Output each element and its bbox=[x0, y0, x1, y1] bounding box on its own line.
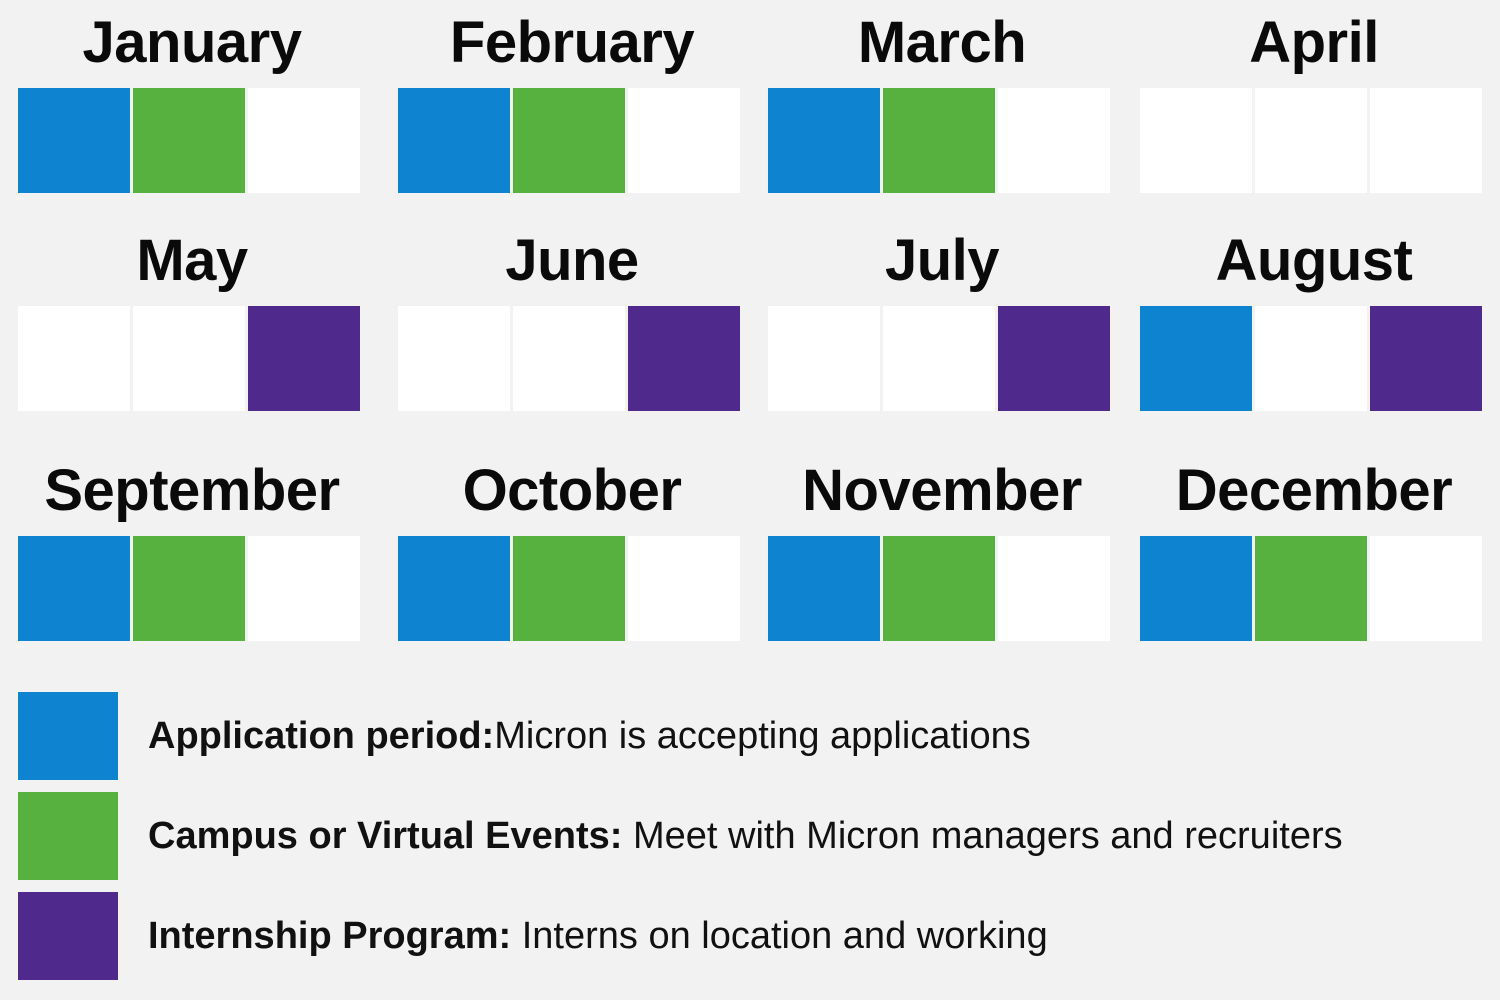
month-cell bbox=[248, 536, 360, 641]
legend-text: Application period:Micron is accepting a… bbox=[148, 714, 1031, 758]
month-group-january: January bbox=[18, 0, 366, 210]
legend-description: Meet with Micron managers and recruiters bbox=[622, 815, 1342, 857]
month-cells bbox=[1140, 306, 1488, 411]
legend-item-campus-or-virtual-events: Campus or Virtual Events: Meet with Micr… bbox=[18, 792, 1488, 880]
month-label: May bbox=[18, 218, 366, 304]
month-group-april: April bbox=[1140, 0, 1488, 210]
legend-term: Internship Program: bbox=[148, 915, 511, 957]
month-cells bbox=[768, 88, 1116, 193]
legend-description: Micron is accepting applications bbox=[494, 715, 1031, 757]
legend-item-internship-program: Internship Program: Interns on location … bbox=[18, 892, 1488, 980]
month-cell bbox=[628, 88, 740, 193]
month-cell bbox=[998, 306, 1110, 411]
legend-swatch-icon bbox=[18, 692, 118, 780]
month-cell bbox=[768, 536, 880, 641]
month-cell bbox=[1140, 536, 1252, 641]
month-cell bbox=[133, 306, 245, 411]
month-cell bbox=[628, 536, 740, 641]
month-label: August bbox=[1140, 218, 1488, 304]
month-group-august: August bbox=[1140, 218, 1488, 428]
month-label: March bbox=[768, 0, 1116, 86]
month-group-march: March bbox=[768, 0, 1116, 210]
month-cell bbox=[18, 536, 130, 641]
month-cell bbox=[1255, 536, 1367, 641]
month-cells bbox=[18, 88, 366, 193]
month-cell bbox=[1140, 88, 1252, 193]
month-label: November bbox=[768, 448, 1116, 534]
month-cell bbox=[248, 88, 360, 193]
legend-text: Campus or Virtual Events: Meet with Micr… bbox=[148, 814, 1343, 858]
month-row-3: September October November bbox=[0, 448, 1500, 658]
month-cell bbox=[1140, 306, 1252, 411]
legend-term: Application period: bbox=[148, 715, 494, 757]
month-cell bbox=[883, 306, 995, 411]
legend-text: Internship Program: Interns on location … bbox=[148, 914, 1048, 958]
month-cell bbox=[628, 306, 740, 411]
month-cells bbox=[398, 88, 746, 193]
month-cell bbox=[1255, 88, 1367, 193]
month-cell bbox=[133, 536, 245, 641]
month-label: October bbox=[398, 448, 746, 534]
month-cell bbox=[768, 306, 880, 411]
month-group-december: December bbox=[1140, 448, 1488, 658]
month-cell bbox=[18, 306, 130, 411]
month-cells bbox=[398, 306, 746, 411]
month-label: June bbox=[398, 218, 746, 304]
month-label: July bbox=[768, 218, 1116, 304]
month-group-june: June bbox=[398, 218, 746, 428]
month-cell bbox=[883, 536, 995, 641]
month-group-may: May bbox=[18, 218, 366, 428]
month-label: February bbox=[398, 0, 746, 86]
month-cell bbox=[513, 536, 625, 641]
month-label: January bbox=[18, 0, 366, 86]
month-cells bbox=[398, 536, 746, 641]
month-group-february: February bbox=[398, 0, 746, 210]
month-group-november: November bbox=[768, 448, 1116, 658]
legend-swatch-icon bbox=[18, 792, 118, 880]
month-cell bbox=[883, 88, 995, 193]
month-cells bbox=[1140, 88, 1488, 193]
month-cell bbox=[398, 536, 510, 641]
month-cells bbox=[1140, 536, 1488, 641]
month-cell bbox=[1255, 306, 1367, 411]
month-label: April bbox=[1140, 0, 1488, 86]
month-group-september: September bbox=[18, 448, 366, 658]
month-row-1: January February March Apr bbox=[0, 0, 1500, 210]
month-cell bbox=[133, 88, 245, 193]
month-cell bbox=[998, 88, 1110, 193]
month-cell bbox=[18, 88, 130, 193]
month-row-2: May June July August bbox=[0, 218, 1500, 428]
month-label: December bbox=[1140, 448, 1488, 534]
month-group-october: October bbox=[398, 448, 746, 658]
month-cell bbox=[1370, 536, 1482, 641]
month-cells bbox=[18, 536, 366, 641]
month-cell bbox=[998, 536, 1110, 641]
month-group-july: July bbox=[768, 218, 1116, 428]
month-cell bbox=[248, 306, 360, 411]
legend-description: Interns on location and working bbox=[511, 915, 1048, 957]
month-cells bbox=[18, 306, 366, 411]
month-label: September bbox=[18, 448, 366, 534]
legend-swatch-icon bbox=[18, 892, 118, 980]
month-cells bbox=[768, 306, 1116, 411]
month-cell bbox=[1370, 306, 1482, 411]
month-cell bbox=[398, 306, 510, 411]
month-cell bbox=[1370, 88, 1482, 193]
legend: Application period:Micron is accepting a… bbox=[18, 692, 1488, 980]
month-cell bbox=[513, 88, 625, 193]
month-cell bbox=[398, 88, 510, 193]
month-cell bbox=[513, 306, 625, 411]
month-cell bbox=[768, 88, 880, 193]
month-cells bbox=[768, 536, 1116, 641]
legend-term: Campus or Virtual Events: bbox=[148, 815, 622, 857]
calendar-infographic: January February March Apr bbox=[0, 0, 1500, 1000]
legend-item-application-period: Application period:Micron is accepting a… bbox=[18, 692, 1488, 780]
